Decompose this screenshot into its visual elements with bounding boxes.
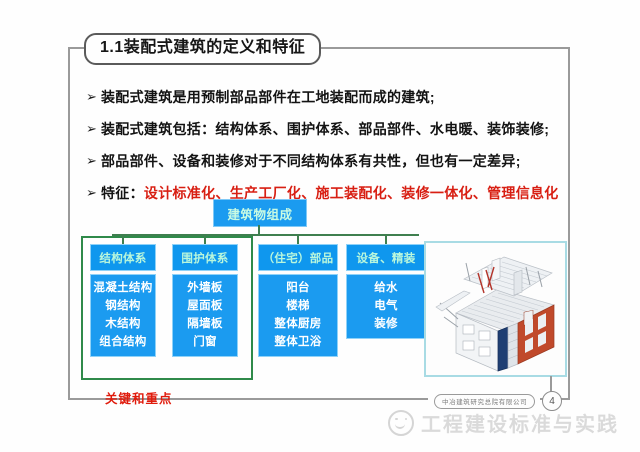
bullet-highlight-text: 设计标准化、生产工厂化、施工装配化、装修一体化、管理信息化 <box>144 185 559 201</box>
list-item: 门窗 <box>193 335 217 349</box>
column-body: 外墙板 屋面板 隔墙板 门窗 <box>172 274 238 357</box>
page-badge-stem <box>550 376 552 392</box>
bullet-text: 部品部件、设备和装修对于不同结构体系有共性，但也有一定差异; <box>101 152 521 171</box>
list-item: 屋面板 <box>187 299 222 313</box>
column-header: 结构体系 <box>90 244 156 271</box>
bullet-list: ➢ 装配式建筑是用预制部品部件在工地装配而成的建筑; ➢ 装配式建筑包括：结构体… <box>86 88 556 216</box>
bullet-text: 装配式建筑包括：结构体系、围护体系、部品部件、水电暖、装饰装修; <box>101 120 549 139</box>
arrow-bullet-icon: ➢ <box>86 152 101 171</box>
column-header: 设备、精装 <box>346 244 426 271</box>
page-title: 1.1装配式建筑的定义和特征 <box>84 33 321 65</box>
list-item: 木结构 <box>105 317 140 331</box>
connector-drop <box>297 234 299 244</box>
diagram-column-equipment: 设备、精装 给水 电气 装修 <box>346 244 426 339</box>
column-header: （住宅）部品 <box>258 244 338 271</box>
arrow-bullet-icon: ➢ <box>86 120 101 139</box>
list-item: 外墙板 <box>187 281 222 295</box>
watermark: 工程建设标准与实践 <box>388 408 619 437</box>
frame-line-right <box>568 47 570 399</box>
list-item: 混凝土结构 <box>94 281 153 295</box>
slide-canvas: 1.1装配式建筑的定义和特征 ➢ 装配式建筑是用预制部品部件在工地装配而成的建筑… <box>0 0 640 452</box>
page-number-badge: 4 <box>542 391 562 411</box>
diagram-column-components: （住宅）部品 阳台 楼梯 整体厨房 整体卫浴 <box>258 244 338 357</box>
diagram-root-node: 建筑物组成 <box>213 199 307 227</box>
connector-drop <box>204 234 206 244</box>
list-item: 隔墙板 <box>187 317 222 331</box>
list-item: ➢ 装配式建筑包括：结构体系、围护体系、部品部件、水电暖、装饰装修; <box>86 120 556 139</box>
list-item: 钢结构 <box>105 299 140 313</box>
prefab-building-3d-image <box>424 241 567 377</box>
bullet-text: 特征：设计标准化、生产工厂化、施工装配化、装修一体化、管理信息化 <box>101 184 559 203</box>
list-item: 楼梯 <box>286 299 310 313</box>
column-body: 阳台 楼梯 整体厨房 整体卫浴 <box>258 274 338 357</box>
key-focus-label: 关键和重点 <box>105 388 173 407</box>
column-header: 围护体系 <box>172 244 238 271</box>
building-illustration-icon <box>426 243 565 375</box>
column-body: 混凝土结构 钢结构 木结构 组合结构 <box>90 274 156 357</box>
list-item: 组合结构 <box>99 335 146 349</box>
wechat-smiley-icon <box>388 410 414 436</box>
list-item: 阳台 <box>286 281 310 295</box>
list-item: ➢ 特征：设计标准化、生产工厂化、施工装配化、装修一体化、管理信息化 <box>86 184 556 203</box>
arrow-bullet-icon: ➢ <box>86 184 101 203</box>
bullet-text: 装配式建筑是用预制部品部件在工地装配而成的建筑; <box>101 88 435 107</box>
list-item: 整体厨房 <box>274 317 321 331</box>
list-item: 给水 <box>374 281 398 295</box>
watermark-text: 工程建设标准与实践 <box>421 408 619 437</box>
company-label: 中冶建筑研究总院有限公司 <box>434 394 535 409</box>
column-body: 给水 电气 装修 <box>346 274 426 339</box>
arrow-bullet-icon: ➢ <box>86 88 101 107</box>
frame-line-left <box>68 47 70 399</box>
diagram-column-structure: 结构体系 混凝土结构 钢结构 木结构 组合结构 <box>90 244 156 357</box>
list-item: ➢ 部品部件、设备和装修对于不同结构体系有共性，但也有一定差异; <box>86 152 556 171</box>
list-item: 装修 <box>374 317 398 331</box>
list-item: 电气 <box>374 299 398 313</box>
connector-drop <box>385 234 387 244</box>
frame-line-top-right <box>310 47 570 49</box>
connector-drop <box>122 234 124 244</box>
list-item: ➢ 装配式建筑是用预制部品部件在工地装配而成的建筑; <box>86 88 556 107</box>
diagram-column-envelope: 围护体系 外墙板 屋面板 隔墙板 门窗 <box>172 244 238 357</box>
list-item: 整体卫浴 <box>274 335 321 349</box>
